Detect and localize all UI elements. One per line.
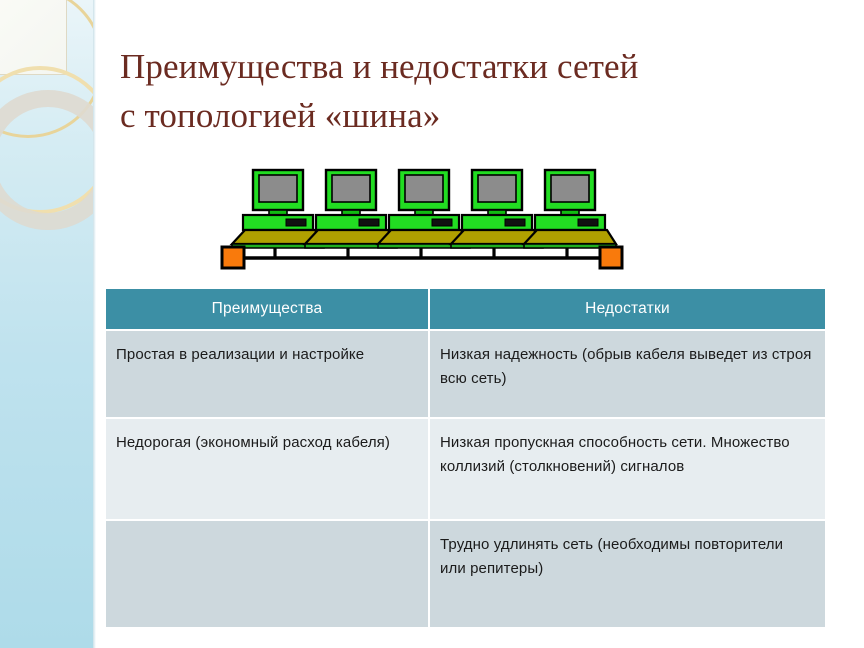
decorative-gray-ring-highlight	[0, 90, 93, 230]
advantages-disadvantages-table: Преимущества Недостатки Простая в реализ…	[104, 287, 827, 629]
computer-node	[524, 170, 616, 248]
column-header-disadvantages: Недостатки	[430, 289, 825, 329]
cell-advantage	[106, 521, 428, 627]
table-row: Недорогая (экономный расход кабеля) Низк…	[106, 419, 825, 519]
decorative-band-edge	[93, 0, 96, 648]
cell-advantage: Простая в реализации и настройке	[106, 331, 428, 417]
table-row: Простая в реализации и настройке Низкая …	[106, 331, 825, 417]
cell-disadvantage: Низкая пропускная способность сети. Множ…	[430, 419, 825, 519]
bus-terminator-right	[600, 247, 622, 268]
cell-advantage: Недорогая (экономный расход кабеля)	[106, 419, 428, 519]
bus-topology-diagram	[212, 168, 632, 280]
page-title: Преимущества и недостатки сетей с тополо…	[120, 42, 820, 140]
bus-terminator-left	[222, 247, 244, 268]
table-row: Трудно удлинять сеть (необходимы повтори…	[106, 521, 825, 627]
computer-node	[378, 170, 470, 248]
computer-node	[305, 170, 397, 248]
cell-disadvantage: Низкая надежность (обрыв кабеля выведет …	[430, 331, 825, 417]
column-header-advantages: Преимущества	[106, 289, 428, 329]
table-header-row: Преимущества Недостатки	[106, 289, 825, 329]
slide-canvas: Преимущества и недостатки сетей с тополо…	[0, 0, 864, 648]
computer-node	[232, 170, 324, 248]
slide-decoration-band	[0, 0, 93, 648]
computer-node	[451, 170, 543, 248]
cell-disadvantage: Трудно удлинять сеть (необходимы повтори…	[430, 521, 825, 627]
